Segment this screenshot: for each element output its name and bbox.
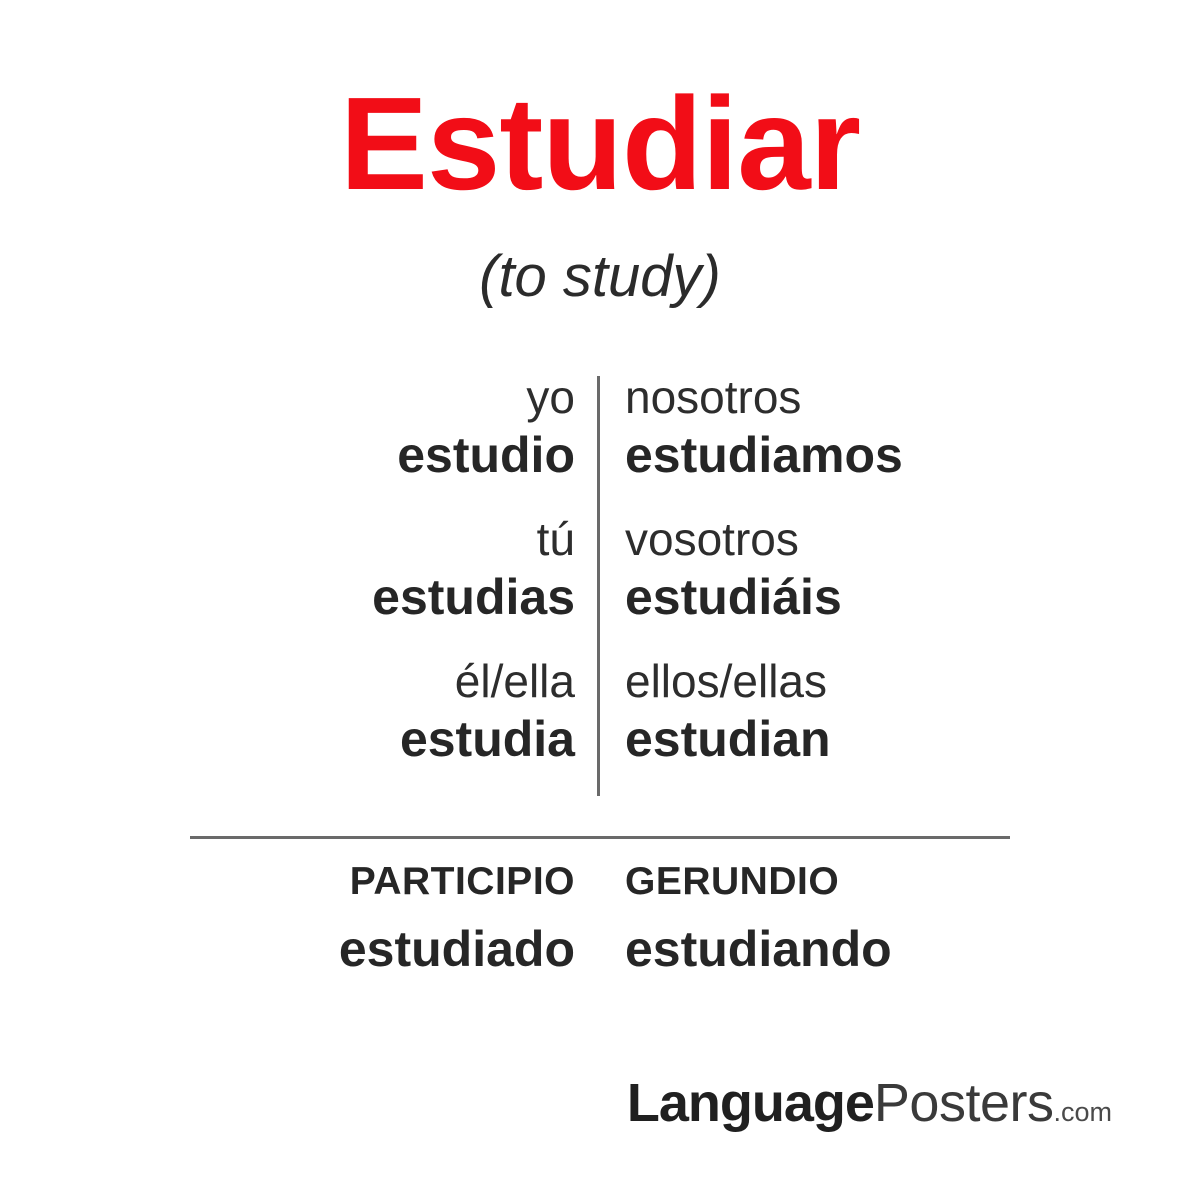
verb-form: estudiamos bbox=[625, 429, 1010, 482]
pronoun-label: ellos/ellas bbox=[625, 658, 1010, 705]
pronoun-label: vosotros bbox=[625, 516, 1010, 563]
verb-form: estudia bbox=[190, 713, 575, 766]
conjugation-row: él/ella estudia ellos/ellas estudian bbox=[190, 658, 1010, 800]
pronoun-label: nosotros bbox=[625, 374, 1010, 421]
verb-translation: (to study) bbox=[0, 248, 1200, 306]
conjugation-cell-singular-third: él/ella estudia bbox=[190, 658, 597, 766]
gerundio-label: GERUNDIO bbox=[625, 862, 1010, 901]
participio-label: PARTICIPIO bbox=[190, 862, 575, 901]
section-divider bbox=[190, 836, 1010, 839]
verb-form: estudio bbox=[190, 429, 575, 482]
verb-form: estudiáis bbox=[625, 571, 1010, 624]
pronoun-label: yo bbox=[190, 374, 575, 421]
verb-conjugation-poster: Estudiar (to study) yo estudio nosotros … bbox=[0, 0, 1200, 1200]
logo-language-text: Language bbox=[627, 1073, 874, 1133]
logo-posters-text: Posters bbox=[874, 1073, 1054, 1133]
conjugation-cell-plural-first: nosotros estudiamos bbox=[625, 374, 1010, 482]
logo-tld-text: .com bbox=[1053, 1097, 1112, 1127]
participio-cell: PARTICIPIO estudiado bbox=[190, 862, 597, 976]
gerundio-cell: GERUNDIO estudiando bbox=[625, 862, 1010, 976]
conjugation-cell-singular-first: yo estudio bbox=[190, 374, 597, 482]
conjugation-cell-singular-second: tú estudias bbox=[190, 516, 597, 624]
verb-form: estudias bbox=[190, 571, 575, 624]
conjugation-row: tú estudias vosotros estudiáis bbox=[190, 516, 1010, 658]
conjugation-cell-plural-third: ellos/ellas estudian bbox=[625, 658, 1010, 766]
nonfinite-forms-section: PARTICIPIO estudiado GERUNDIO estudiando bbox=[190, 862, 1010, 1002]
conjugation-cell-plural-second: vosotros estudiáis bbox=[625, 516, 1010, 624]
participio-form: estudiado bbox=[190, 923, 575, 976]
poster-header: Estudiar (to study) bbox=[0, 78, 1200, 306]
languageposters-logo[interactable]: LanguagePosters.com bbox=[627, 1076, 1112, 1130]
pronoun-label: él/ella bbox=[190, 658, 575, 705]
verb-form: estudian bbox=[625, 713, 1010, 766]
conjugation-row: yo estudio nosotros estudiamos bbox=[190, 374, 1010, 516]
pronoun-label: tú bbox=[190, 516, 575, 563]
verb-title: Estudiar bbox=[0, 78, 1200, 210]
gerundio-form: estudiando bbox=[625, 923, 1010, 976]
conjugation-table: yo estudio nosotros estudiamos tú estudi… bbox=[190, 374, 1010, 798]
